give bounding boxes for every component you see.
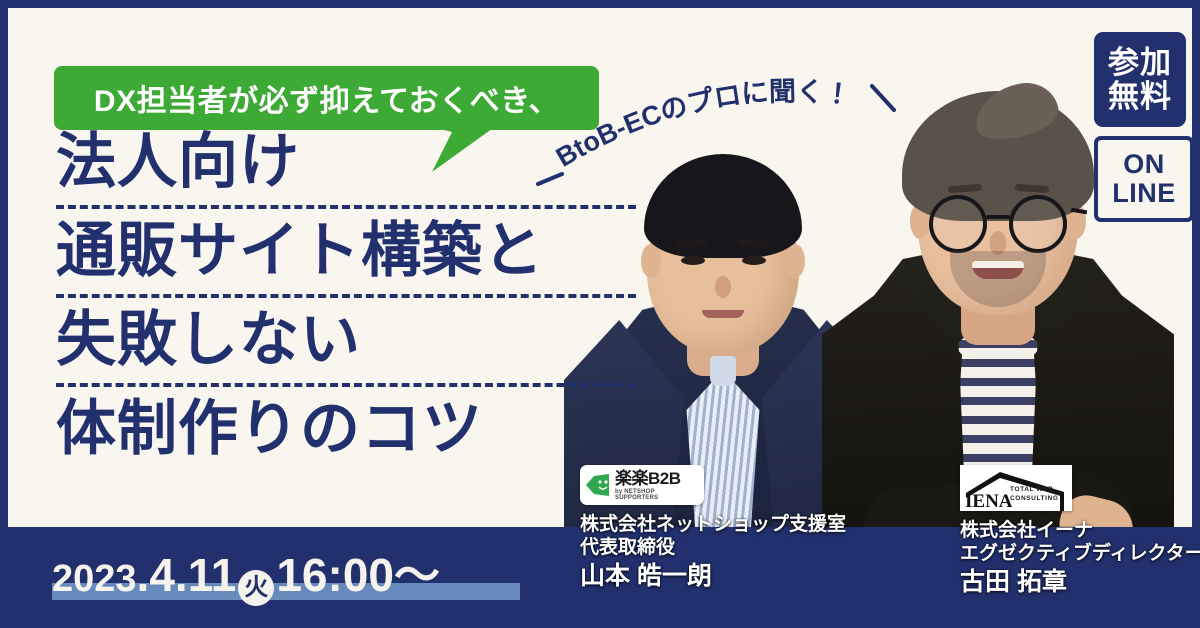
glasses-bridge: [986, 215, 1010, 219]
badge-online-line2: LINE: [1112, 179, 1176, 208]
badge-online: ON LINE: [1094, 136, 1192, 222]
speaker-right-details: 株式会社イーナ エグゼクティブディレクター 古田 拓章: [960, 519, 1200, 598]
iena-logo-sub: TOTAL WEB CONSULTING: [1010, 485, 1068, 505]
rakuraku-logo-text: 楽楽B2B by NETSHOP SUPPORTERS: [615, 470, 699, 501]
headline-line-4: 体制作りのコツ: [56, 393, 656, 465]
lens-left: [929, 195, 987, 253]
speaker-right-title: エグゼクティブディレクター: [960, 542, 1200, 565]
rakuraku-b2b-logo: 楽楽B2B by NETSHOP SUPPORTERS: [580, 465, 704, 505]
banner-canvas: DX担当者が必ず抑えておくべき、 BtoB-ECのプロに聞く！ 法人向け 通販サ…: [8, 8, 1192, 527]
eye-left: [681, 256, 705, 265]
date-dot-2: .: [175, 549, 188, 601]
date-month: 4: [149, 549, 175, 601]
bubble-text: DX担当者が必ず抑えておくべき、: [94, 76, 559, 120]
teeth: [972, 261, 1024, 268]
speaker-left-title: 代表取締役: [580, 536, 910, 559]
speaker-right-name: 古田 拓章: [960, 567, 1200, 598]
hair: [644, 154, 802, 258]
mouth: [972, 261, 1024, 279]
headline-divider-2: [56, 294, 636, 298]
headline-divider-3: [56, 383, 636, 387]
speaker-left-company: 株式会社ネットショップ支援室: [580, 513, 910, 536]
green-speech-bubble: DX担当者が必ず抑えておくべき、: [54, 66, 599, 130]
speaker-left-details: 株式会社ネットショップ支援室 代表取締役 山本 皓一朗: [580, 513, 910, 592]
speaker-left-name: 山本 皓一朗: [580, 561, 910, 592]
headline-line-3: 失敗しない: [56, 304, 656, 376]
iena-logo-main: IENA: [965, 491, 1013, 511]
eye-right: [742, 256, 766, 265]
headline-line-2: 通販サイト構築と: [56, 215, 656, 287]
lens-right: [1009, 195, 1067, 253]
badge-free-line1: 参加: [1108, 46, 1172, 79]
ear-right: [785, 244, 805, 278]
headline-line-1: 法人向け: [56, 126, 656, 198]
rakuraku-logo-sub: by NETSHOP SUPPORTERS: [615, 489, 699, 501]
iena-logo: IENA TOTAL WEB CONSULTING: [960, 465, 1072, 511]
date-tilde: 〜: [394, 549, 440, 601]
event-datetime: 2023.4.11火16:00〜: [52, 551, 440, 607]
speaker-credit-left: 楽楽B2B by NETSHOP SUPPORTERS 株式会社ネットショップ支…: [580, 465, 910, 592]
date-day: 11: [188, 549, 237, 601]
date-weekday-badge: 火: [238, 570, 274, 606]
speaker-right-company: 株式会社イーナ: [960, 519, 1200, 542]
mouth: [702, 310, 744, 318]
date-time: 16:00: [276, 549, 394, 601]
collar-knot: [710, 356, 736, 386]
rakuraku-logo-main: 楽楽B2B: [615, 470, 699, 487]
headline: 法人向け 通販サイト構築と 失敗しない 体制作りのコツ: [56, 126, 656, 465]
badge-online-line1: ON: [1123, 150, 1165, 179]
nose: [715, 276, 731, 298]
date-year: 2023: [52, 558, 137, 600]
headline-divider-1: [56, 205, 636, 209]
badge-free-line2: 無料: [1108, 80, 1172, 113]
speaker-credit-right: IENA TOTAL WEB CONSULTING 株式会社イーナ エグゼクティ…: [960, 465, 1200, 598]
event-datetime-text: 2023.4.11火16:00〜: [52, 552, 440, 606]
date-dot-1: .: [137, 549, 150, 601]
webinar-banner: DX担当者が必ず抑えておくべき、 BtoB-ECのプロに聞く！ 法人向け 通販サ…: [0, 0, 1200, 628]
badge-free-participation: 参加 無料: [1094, 32, 1186, 127]
megaphone-icon: [585, 473, 611, 497]
